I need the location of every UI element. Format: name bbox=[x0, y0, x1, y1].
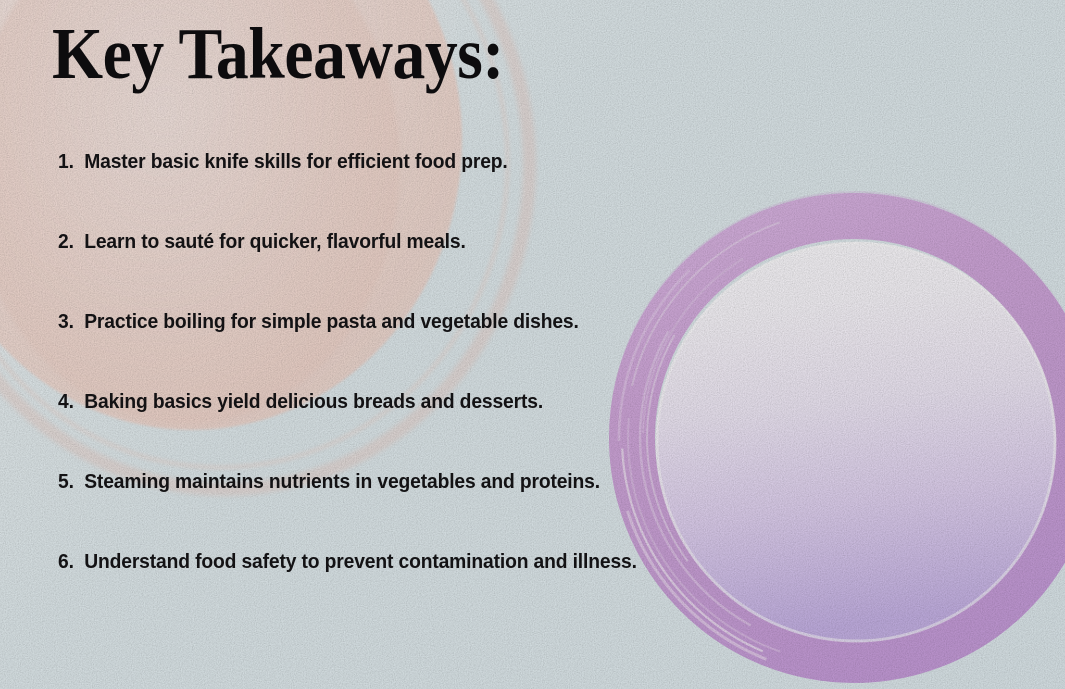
list-item: 6. Understand food safety to prevent con… bbox=[58, 552, 960, 632]
list-item-text: Practice boiling for simple pasta and ve… bbox=[84, 310, 578, 333]
list-item-number: 2. bbox=[58, 230, 79, 253]
list-item-number: 1. bbox=[58, 150, 79, 173]
list-item-text: Steaming maintains nutrients in vegetabl… bbox=[84, 470, 600, 493]
list-item-number: 5. bbox=[58, 470, 79, 493]
list-item-text: Master basic knife skills for efficient … bbox=[84, 150, 507, 173]
list-item-text: Learn to sauté for quicker, flavorful me… bbox=[84, 230, 465, 253]
list-item: 1. Master basic knife skills for efficie… bbox=[58, 152, 960, 232]
list-item: 3. Practice boiling for simple pasta and… bbox=[58, 312, 960, 392]
list-item: 2. Learn to sauté for quicker, flavorful… bbox=[58, 232, 960, 312]
list-item-number: 4. bbox=[58, 390, 79, 413]
takeaways-list: 1. Master basic knife skills for efficie… bbox=[58, 152, 1018, 632]
list-item: 5. Steaming maintains nutrients in veget… bbox=[58, 472, 960, 552]
list-item-number: 3. bbox=[58, 310, 79, 333]
list-item: 4. Baking basics yield delicious breads … bbox=[58, 392, 960, 472]
list-item-text: Understand food safety to prevent contam… bbox=[84, 550, 637, 573]
slide-canvas: Key Takeaways: 1. Master basic knife ski… bbox=[0, 0, 1065, 689]
list-item-number: 6. bbox=[58, 550, 79, 573]
page-title: Key Takeaways: bbox=[52, 17, 504, 90]
list-item-text: Baking basics yield delicious breads and… bbox=[84, 390, 543, 413]
